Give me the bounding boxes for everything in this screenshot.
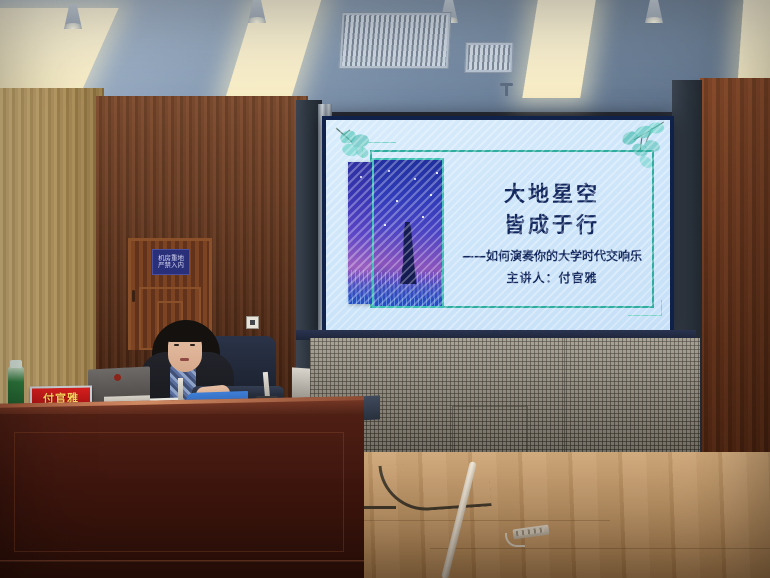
slide-corner-accent bbox=[362, 142, 396, 158]
slide-presenter: 主讲人：付官雅 bbox=[506, 269, 597, 286]
presenter-eye bbox=[174, 344, 179, 346]
bottle-icon bbox=[8, 366, 24, 408]
presentation-slide: 大地星空 皆成于行 ——如何演奏你的大学时代交响乐 主讲人：付官雅 bbox=[326, 120, 670, 334]
light-switch-icon[interactable] bbox=[246, 316, 259, 329]
vent-icon bbox=[339, 12, 452, 69]
door-sign-line-2: 严禁入内 bbox=[158, 262, 184, 269]
door-handle[interactable] bbox=[132, 290, 135, 302]
desk-panel-inset bbox=[14, 432, 344, 552]
lecture-hall-photo: 机房重地 严禁入内 bbox=[0, 0, 770, 578]
vent-icon bbox=[464, 42, 513, 73]
desk-groove bbox=[0, 560, 364, 563]
slide-title-line-2: 皆成于行 bbox=[504, 211, 600, 239]
door-warning-sign: 机房重地 严禁入内 bbox=[152, 249, 190, 275]
slide-title-line-1: 大地星空 bbox=[504, 180, 600, 208]
presenter-eye bbox=[190, 344, 195, 346]
slide-text-block: 大地星空 皆成于行 ——如何演奏你的大学时代交响乐 主讲人：付官雅 bbox=[454, 160, 650, 306]
projection-screen: 大地星空 皆成于行 ——如何演奏你的大学时代交响乐 主讲人：付官雅 bbox=[322, 116, 674, 338]
slide-photo-main bbox=[372, 158, 444, 308]
bottle-cap bbox=[10, 360, 22, 368]
presenter-fringe bbox=[165, 324, 205, 342]
slide-subtitle: ——如何演奏你的大学时代交响乐 bbox=[462, 247, 642, 264]
right-wood-wall-shading bbox=[700, 78, 770, 498]
sprinkler-icon bbox=[505, 85, 508, 96]
presenter-mouth bbox=[180, 358, 189, 361]
